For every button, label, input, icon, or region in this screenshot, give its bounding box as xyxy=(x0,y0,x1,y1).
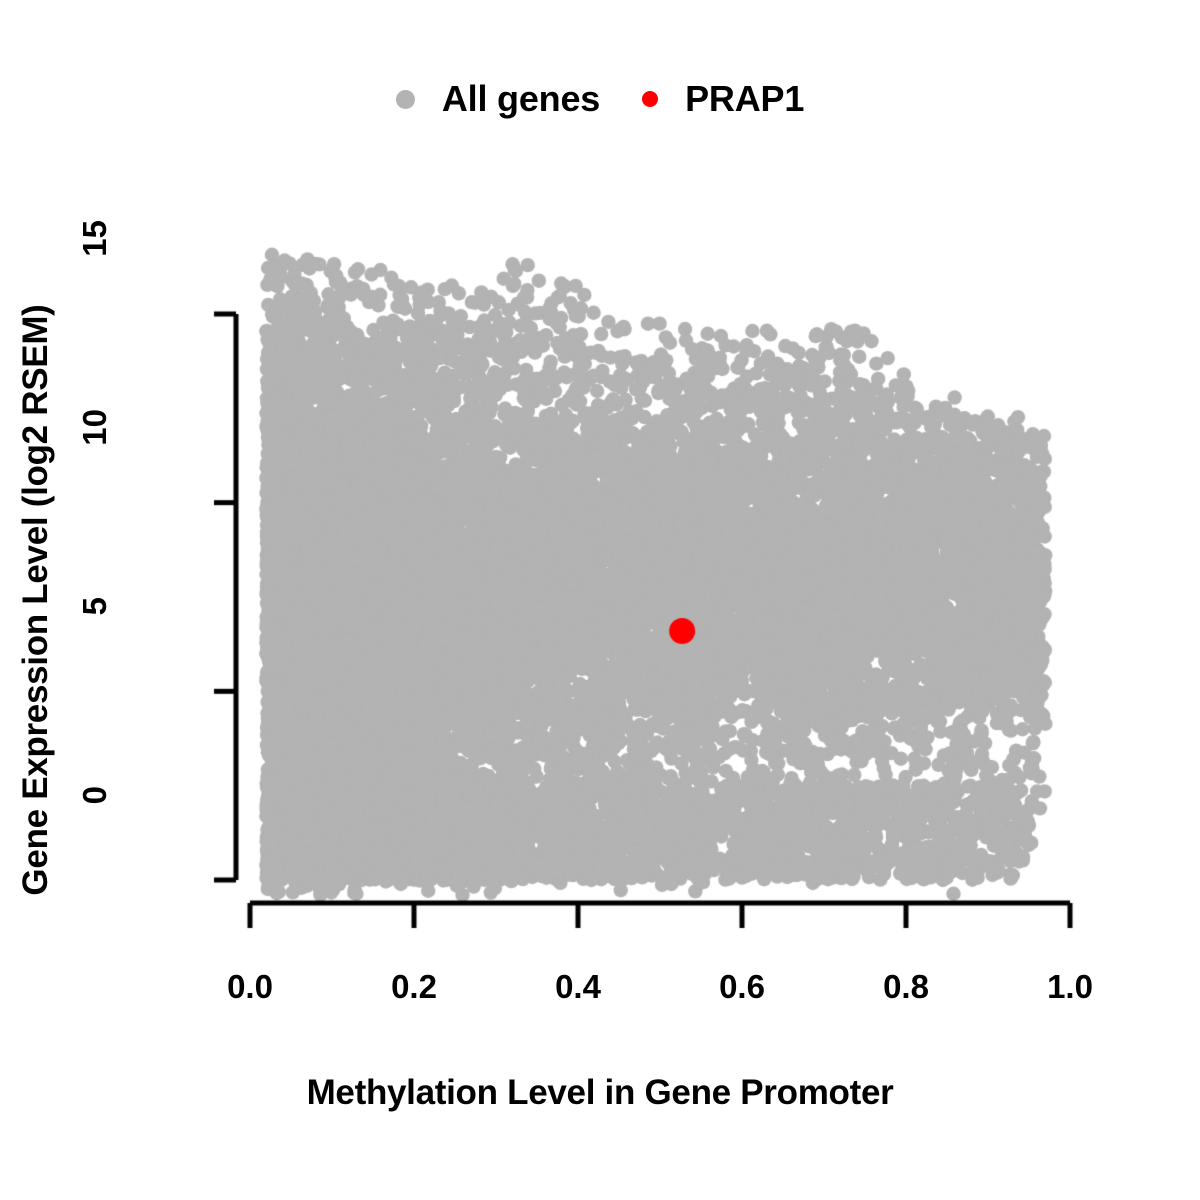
scatter-plot-figure: All genes PRAP1 Methylation Level in Gen… xyxy=(0,0,1200,1200)
y-tick-label: 15 xyxy=(76,220,114,410)
x-tick-label: 0.2 xyxy=(391,968,437,1006)
x-tick-label: 0.0 xyxy=(227,968,273,1006)
y-tick-label: 10 xyxy=(76,409,114,599)
scatter-plot-canvas xyxy=(0,0,1200,1200)
x-tick-label: 1.0 xyxy=(1047,968,1093,1006)
y-tick-label: 5 xyxy=(76,597,114,787)
y-tick-label: 0 xyxy=(76,786,114,976)
x-tick-label: 0.8 xyxy=(883,968,929,1006)
x-tick-label: 0.6 xyxy=(719,968,765,1006)
x-axis-title: Methylation Level in Gene Promoter xyxy=(0,1073,1200,1113)
x-tick-label: 0.4 xyxy=(555,968,601,1006)
